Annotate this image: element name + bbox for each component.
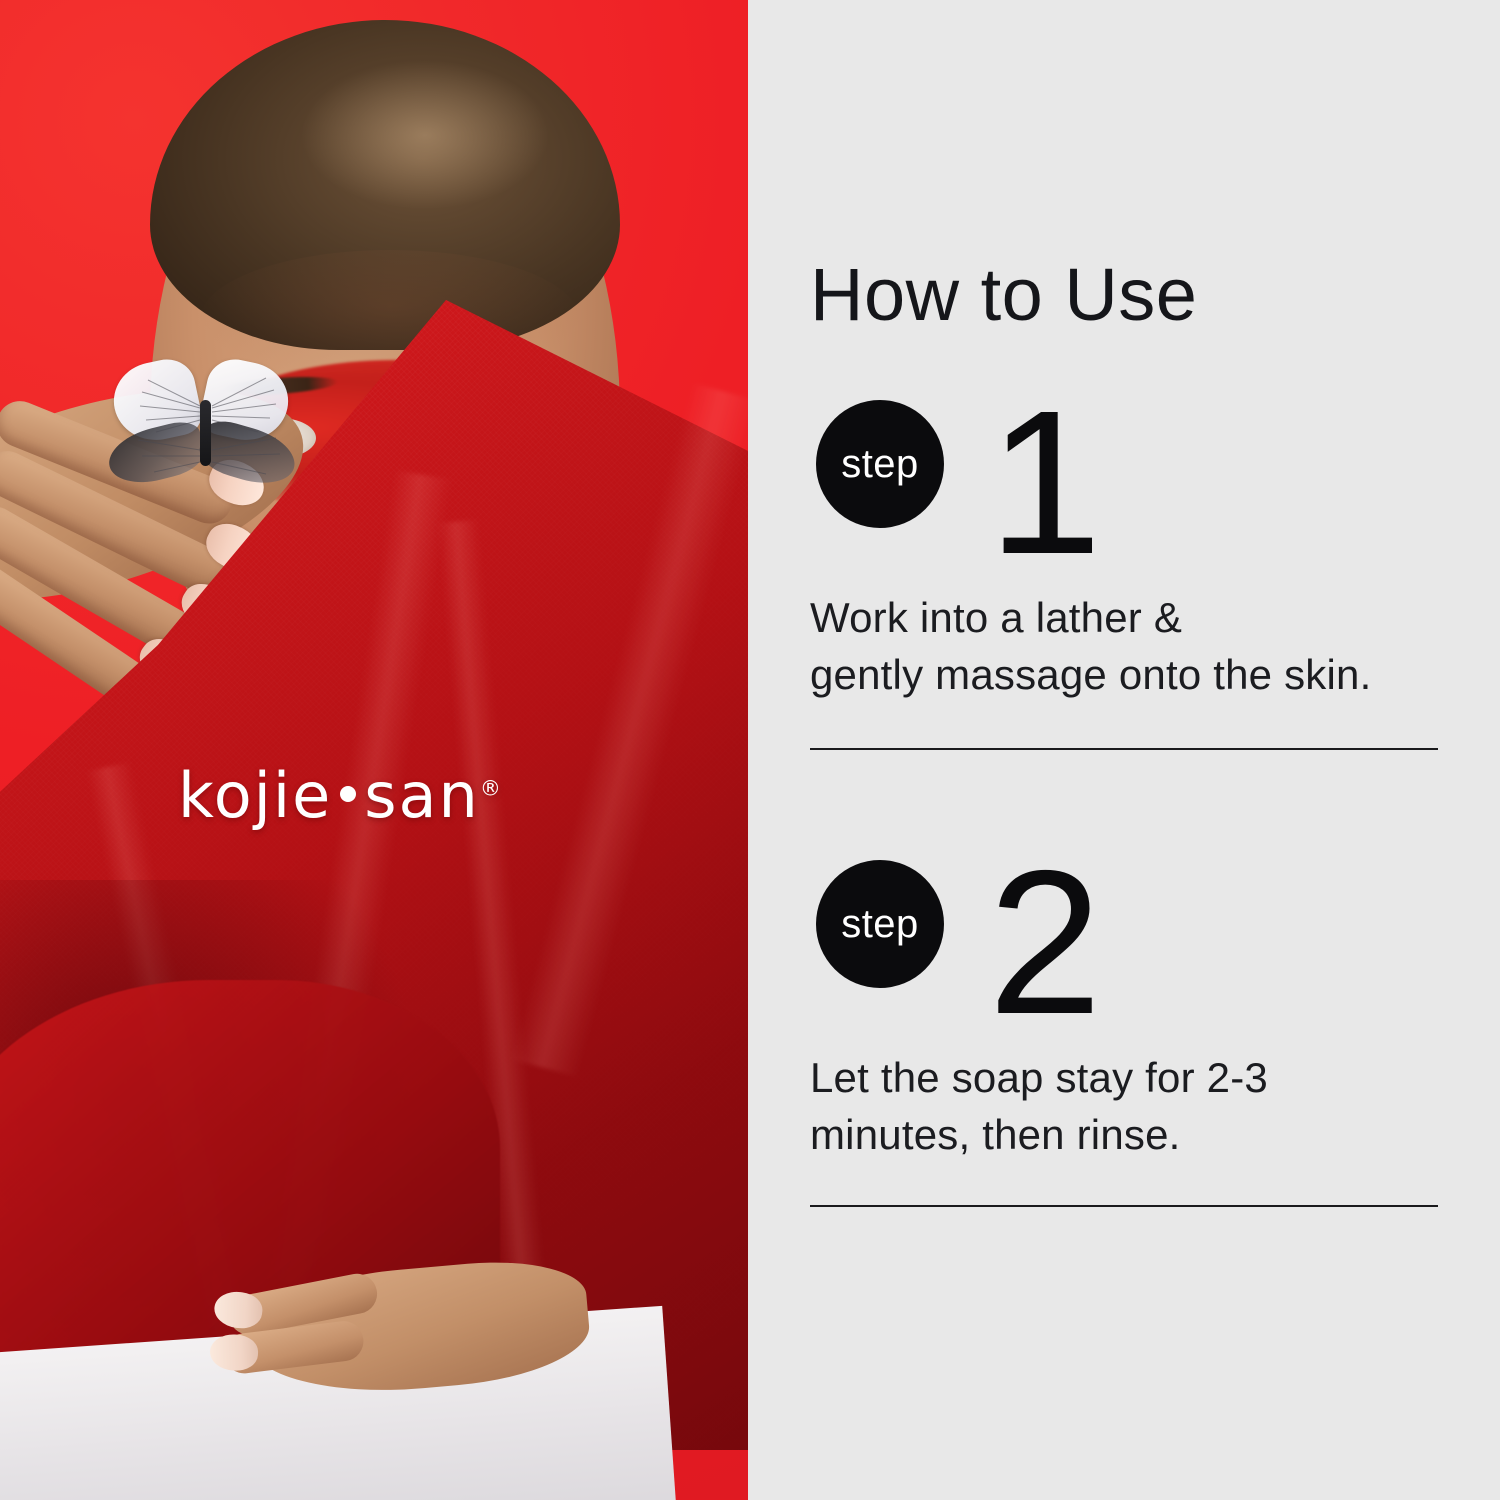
step-2-description: Let the soap stay for 2-3 minutes, then … (810, 1049, 1450, 1163)
brand-logo: kojiesan® (178, 765, 501, 827)
step-2-badge-label: step (841, 904, 919, 944)
step-2-badge: step (816, 860, 944, 988)
step-item-1: step 1 Work into a lather & gently massa… (810, 400, 1450, 703)
step-divider-1 (810, 748, 1438, 750)
page-title: How to Use (810, 258, 1197, 332)
hair-highlight (300, 60, 550, 210)
brand-name-first: kojie (178, 759, 332, 832)
fingernail (209, 1333, 259, 1371)
butterfly-wing-veins (108, 358, 308, 508)
step-divider-2 (810, 1205, 1438, 1207)
instructions-panel: How to Use step 1 Work into a lather & g… (748, 0, 1500, 1500)
product-how-to-use-card: kojiesan® How to Use step 1 Work into a … (0, 0, 1500, 1500)
step-2-number: 2 (988, 840, 1100, 1045)
model-photo-panel: kojiesan® (0, 0, 748, 1500)
step-1-badge: step (816, 400, 944, 528)
step-2-header: step 2 (810, 860, 1450, 1055)
registered-trademark-icon: ® (480, 776, 501, 800)
step-1-header: step 1 (810, 400, 1450, 595)
step-1-badge-label: step (841, 444, 919, 484)
step-1-number: 1 (988, 380, 1100, 585)
dot-separator-icon (340, 786, 356, 802)
brand-name-second: san (364, 759, 480, 832)
step-item-2: step 2 Let the soap stay for 2-3 minutes… (810, 860, 1450, 1163)
butterfly-icon (108, 358, 308, 508)
step-1-description: Work into a lather & gently massage onto… (810, 589, 1450, 703)
